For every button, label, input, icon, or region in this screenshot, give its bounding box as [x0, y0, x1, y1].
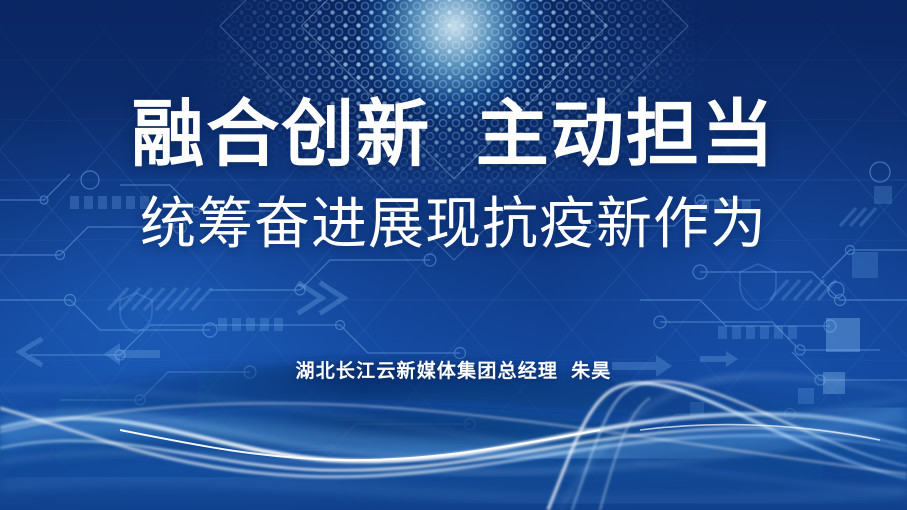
slide-byline: 湖北长江云新媒体集团总经理 朱昊	[0, 356, 907, 383]
presentation-slide: 融合创新 主动担当 统筹奋进展现抗疫新作为 湖北长江云新媒体集团总经理 朱昊	[0, 0, 907, 510]
slide-title-main: 融合创新 主动担当	[131, 96, 776, 175]
slide-title-sub: 统筹奋进展现抗疫新作为	[140, 193, 767, 255]
slide-content: 融合创新 主动担当 统筹奋进展现抗疫新作为	[0, 0, 907, 510]
